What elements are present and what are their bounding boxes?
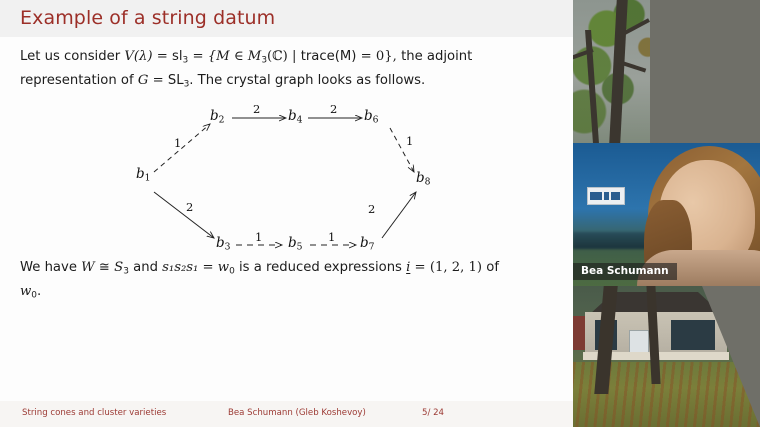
underlined-i: i [406,260,410,275]
edge-label-b7-b8: 2 [368,202,375,216]
video-tile-tree-scene[interactable] [573,0,760,143]
watermark-logo-icon [587,187,625,205]
w0-subscript: 0 [229,267,235,277]
graph-node-b3: b3 [216,235,231,253]
longest-element-w0: w [218,260,229,275]
trace-expression: trace(M) [301,49,357,64]
edge-label-b5-b7: 1 [328,230,335,244]
m3-symbol: M [248,49,262,64]
graph-node-b6: b6 [364,108,379,126]
equals-2: = [192,49,203,64]
edge-label-b1-b2: 1 [174,136,181,150]
speaker-name-label: Bea Schumann [573,263,677,280]
graph-node-b8: b8 [416,170,431,188]
set-open: {M [208,49,230,64]
zero-close: 0}, [376,49,397,64]
edge-b7-b8 [382,192,416,238]
page-title: Example of a string datum [20,7,275,29]
representation-lead: representation of [20,73,134,88]
edge-b1-b2 [154,124,210,172]
weyl-group-w: W [81,260,95,275]
such-that-bar: | [292,49,296,64]
graph-node-b5: b5 [288,235,303,253]
sl3-subscript: 3 [183,56,189,66]
adjoint-text: the adjoint [401,49,472,64]
video-panel: Bea Schumann [573,0,760,427]
we-have-lead: We have [20,260,77,275]
equals-5: = [203,260,214,275]
slide-footer: String cones and cluster varieties Bea S… [0,401,573,427]
crystal-graph-diagram: b1 b2 b3 b4 b5 b6 b7 b8 1 2 2 2 1 1 1 2 [110,100,470,260]
crystal-graph-sentence: . The crystal graph looks as follows. [189,73,425,88]
and-word: and [133,260,158,275]
footer-talk-title: String cones and cluster varieties [22,408,166,418]
complex-field: (ℂ) [267,49,288,64]
equals-4: = [153,73,164,88]
final-period: . [37,284,41,299]
video-tile-speaker[interactable]: Bea Schumann [573,143,760,286]
reduced-expression-text: is a reduced expressions [239,260,402,275]
slide-area: Example of a string datum Let us conside… [0,0,573,427]
v-lambda: V(λ) [124,49,152,64]
edge-label-b4-b6: 2 [330,102,337,116]
longest-element-w0-line2: w [20,284,31,299]
presentation-screen: Example of a string datum Let us conside… [0,0,760,427]
sl-big: SL [168,73,184,88]
equals-1: = [157,49,168,64]
reduced-word: s₁s₂s₁ [162,260,198,275]
tile-letterbox-fill [650,0,760,143]
edge-b1-b3 [154,192,214,238]
index-tuple: (1, 2, 1) [430,260,482,275]
footer-authors: Bea Schumann (Gleb Koshevoy) [228,408,366,418]
tile-corner-letterbox [702,286,760,427]
symmetric-group-s: S [114,260,123,275]
member-symbol: ∈ [234,49,244,64]
equals-3: = [361,49,372,64]
edge-label-b6-b8: 1 [406,134,413,148]
footer-page-number: 5/ 24 [422,408,444,418]
edge-label-b1-b3: 2 [186,200,193,214]
edge-label-b3-b5: 1 [255,230,262,244]
conclusion-paragraph: We have W ≅ S3 and s₁s₂s₁ = w0 is a redu… [20,258,560,305]
congruent-symbol: ≅ [99,260,110,275]
equals-6: = [415,260,426,275]
graph-node-b1: b1 [136,166,151,184]
graph-node-b4: b4 [288,108,303,126]
sl3-symbol: sl [172,49,183,64]
graph-node-b2: b2 [210,108,225,126]
intro-lead: Let us consider [20,49,120,64]
graph-node-b7: b7 [360,235,375,253]
of-word: of [486,260,499,275]
intro-paragraph: Let us consider V(λ) = sl3 = {M ∈ M3(ℂ) … [20,47,550,94]
video-tile-house-scene[interactable] [573,286,760,427]
group-g: G [138,73,149,88]
symmetric-group-subscript: 3 [123,267,129,277]
edge-label-b2-b4: 2 [253,102,260,116]
